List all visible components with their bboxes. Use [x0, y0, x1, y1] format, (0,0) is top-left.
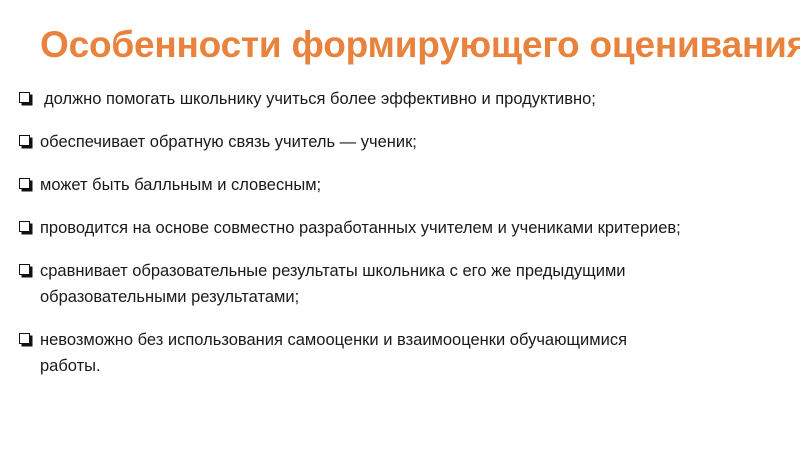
list-item-text: обеспечивает обратную связь учитель — уч… — [40, 129, 784, 155]
square-bullet-icon — [19, 264, 30, 275]
list-item-text: сравнивает образовательные результаты шк… — [40, 258, 784, 284]
square-bullet-icon — [19, 135, 30, 146]
list-item: обеспечивает обратную связь учитель — уч… — [0, 129, 800, 155]
square-bullet-icon — [19, 221, 30, 232]
list-item-wrapped-line: работы. — [40, 357, 101, 375]
list-item-text: может быть балльным и словесным; — [40, 172, 784, 198]
page-title: Особенности формирующего оценивания — [40, 23, 760, 67]
square-bullet-icon — [19, 92, 30, 103]
list-item-text: должно помогать школьнику учиться более … — [44, 86, 784, 112]
list-item: невозможно без использования самооценки … — [0, 327, 800, 379]
list-item: проводится на основе совместно разработа… — [0, 215, 800, 241]
slide-canvas: Особенности формирующего оценивания долж… — [0, 0, 800, 450]
list-item: сравнивает образовательные результаты шк… — [0, 258, 800, 310]
list-item: должно помогать школьнику учиться более … — [0, 86, 800, 112]
square-bullet-icon — [19, 178, 30, 189]
square-bullet-icon — [19, 333, 30, 344]
list-item: может быть балльным и словесным; — [0, 172, 800, 198]
list-item-text: невозможно без использования самооценки … — [40, 327, 784, 353]
list-item-text: проводится на основе совместно разработа… — [40, 215, 784, 241]
bullet-list: должно помогать школьнику учиться более … — [0, 86, 800, 396]
list-item-wrapped-line: образовательными результатами; — [40, 288, 299, 306]
